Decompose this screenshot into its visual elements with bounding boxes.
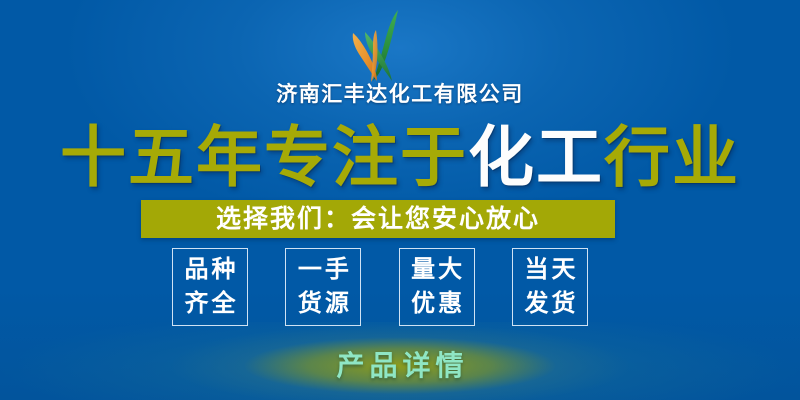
product-details-cta[interactable]: 产品详情 [0,352,800,380]
headline-part-2: 行业 [604,120,740,194]
company-name: 济南汇丰达化工有限公司 [0,84,800,105]
feature-line-1: 量大 [408,253,465,287]
feature-line-2: 发货 [521,287,578,321]
feature-line-2: 齐全 [182,287,239,321]
feature-box-same-day-shipping: 当天 发货 [512,248,588,326]
feature-box-bulk-discount: 量大 优惠 [399,248,475,326]
headline-highlight: 化工 [468,120,604,194]
headline: 十五年专注于化工行业 [0,118,800,196]
feature-box-variety: 品种 齐全 [172,248,248,326]
feature-line-1: 品种 [182,253,239,287]
subtitle-bar: 选择我们：会让您安心放心 [141,200,615,238]
subtitle-text: 选择我们：会让您安心放心 [216,207,540,232]
feature-line-2: 货源 [295,287,352,321]
feature-line-1: 当天 [521,253,578,287]
feature-line-1: 一手 [295,253,352,287]
feature-box-list: 品种 齐全 一手 货源 量大 优惠 当天 发货 [172,248,588,326]
feature-box-first-hand-supply: 一手 货源 [285,248,361,326]
leaf-logo-icon [335,8,447,84]
headline-part-1: 十五年专注于 [60,120,468,194]
promo-banner: 济南汇丰达化工有限公司 十五年专注于化工行业 选择我们：会让您安心放心 品种 齐… [0,0,800,400]
feature-line-2: 优惠 [408,287,465,321]
